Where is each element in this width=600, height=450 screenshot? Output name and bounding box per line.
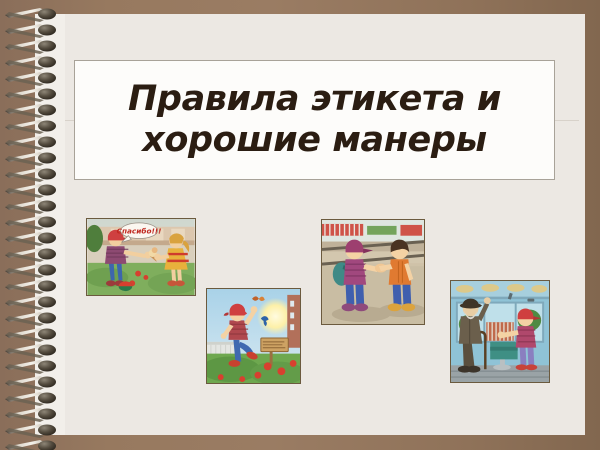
picture-give-seat[interactable] [450, 280, 550, 383]
picture-meadow[interactable] [206, 288, 301, 384]
picture-handshake[interactable] [321, 219, 425, 325]
slide-canvas: Правила этикета и хорошие манеры [0, 0, 600, 450]
slide-title-box: Правила этикета и хорошие манеры [74, 60, 555, 180]
picture-thank-you[interactable]: Спасибо!!! [86, 218, 196, 296]
page-title: Правила этикета и хорошие манеры [118, 79, 511, 162]
page-margin-strip [35, 14, 65, 435]
speech-bubble-text-1: Спасибо!!! [117, 227, 162, 236]
